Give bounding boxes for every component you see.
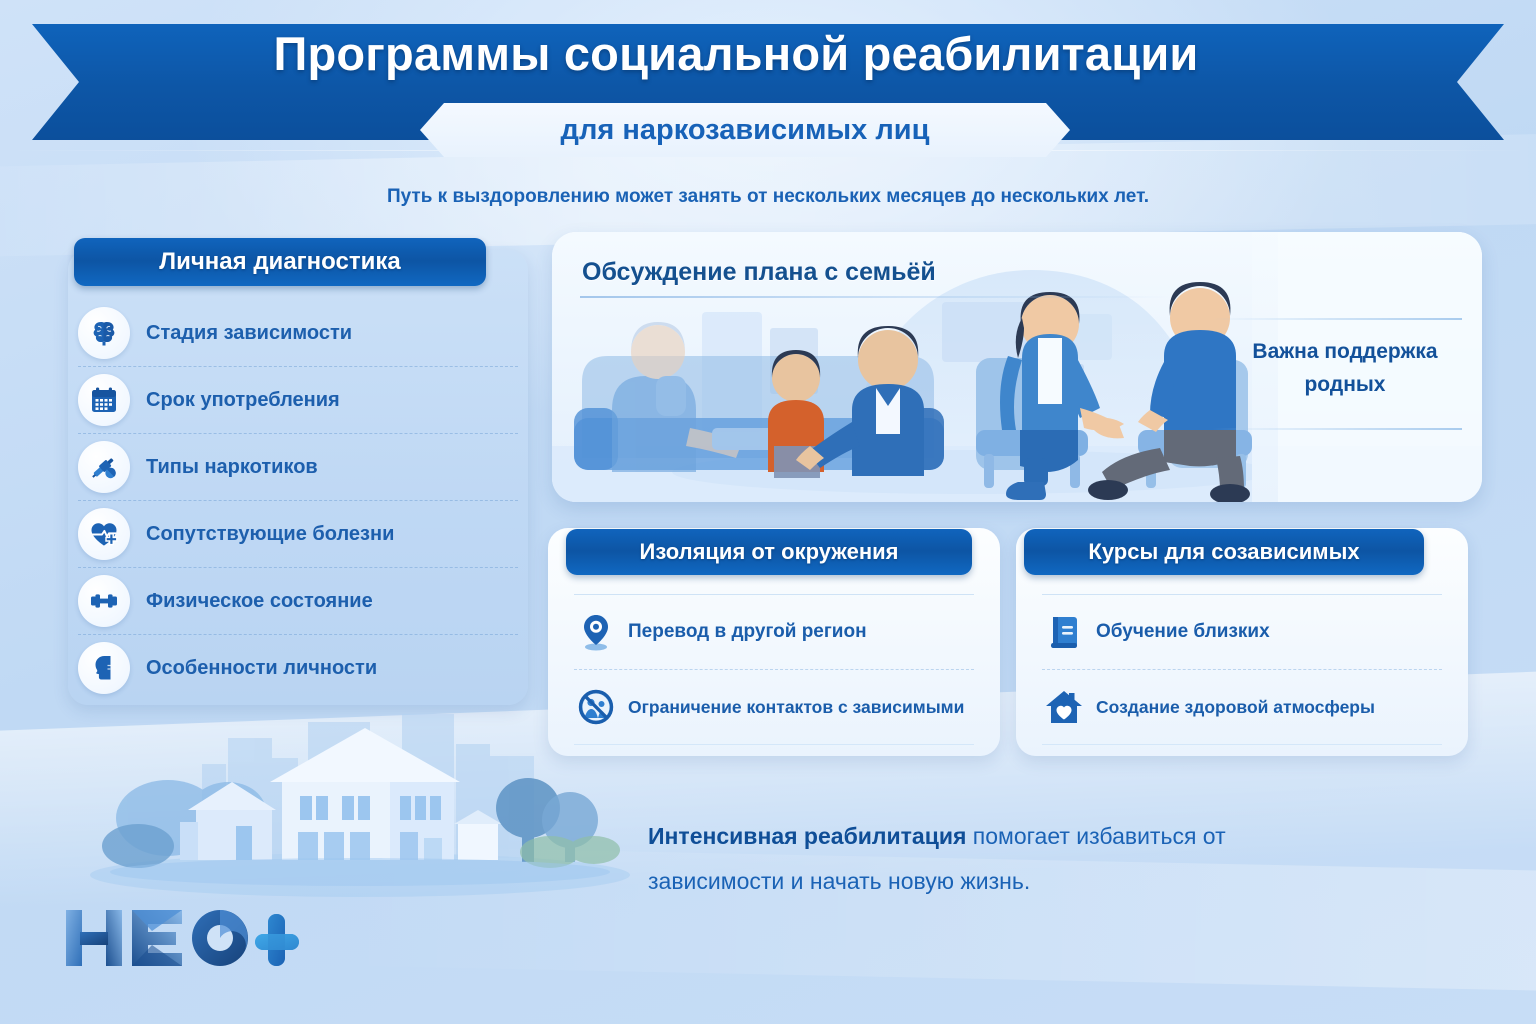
sidebar-list: Стадия зависимости [78,300,518,701]
heart-cross-icon [78,508,130,560]
sidebar-item-drug-types[interactable]: Типы наркотиков [78,434,518,501]
dumbbell-icon [78,575,130,627]
codependent-courses-list: Обучение близких Создание здоровой атмос… [1042,594,1442,745]
logo[interactable] [62,902,312,974]
conclusion-text: Интенсивная реабилитация помогает избави… [648,814,1348,904]
head-profile-icon [78,642,130,694]
sidebar-item-label: Особенности личности [146,657,377,680]
header-subribbon: для наркозависимых лиц [420,103,1070,157]
neo-plus-logo-icon [62,902,312,974]
isolation-item-relocation[interactable]: Перевод в другой регион [574,594,974,670]
course-item-healthy-atmosphere[interactable]: Создание здоровой атмосферы [1042,670,1442,745]
isolation-card-title: Изоляция от окружения [566,529,972,575]
sidebar-item-personality[interactable]: Особенности личности [78,635,518,701]
rehab-house-city-illustration [60,700,630,900]
sidebar-item-label: Стадия зависимости [146,322,352,345]
infographic-poster: Программы социальной реабилитации для на… [0,0,1536,1024]
course-item-label: Обучение близких [1096,621,1270,643]
course-item-label: Создание здоровой атмосферы [1096,697,1375,718]
page-subtitle: для наркозависимых лиц [420,103,1070,157]
isolation-item-label: Перевод в другой регион [628,621,867,643]
syringe-pills-icon [78,441,130,493]
isolation-list: Перевод в другой регион [574,594,974,745]
hero-title: Обсуждение плана с семьёй [582,258,936,287]
sidebar-item-label: Сопутствующие болезни [146,523,394,546]
map-pin-icon [574,613,618,651]
isolation-item-limit-contacts[interactable]: Ограничение контактов с зависимыми [574,670,974,745]
hero-title-rule [580,296,1170,298]
conclusion-bold: Интенсивная реабилитация [648,823,966,849]
sidebar-item-duration[interactable]: Срок употребления [78,367,518,434]
hero-note-rule-bottom [1212,428,1462,430]
codependent-courses-card-title: Курсы для созависимых [1024,529,1424,575]
calendar-icon [78,374,130,426]
sidebar-item-label: Срок употребления [146,389,340,412]
sidebar-item-stage[interactable]: Стадия зависимости [78,300,518,367]
intro-text: Путь к выздоровлению может занять от нес… [0,186,1536,208]
isolation-item-label: Ограничение контактов с зависимыми [628,697,964,718]
sidebar-title: Личная диагностика [74,238,486,286]
sidebar-item-label: Физическое состояние [146,590,373,613]
course-item-education[interactable]: Обучение близких [1042,594,1442,670]
page-title: Программы социальной реабилитации [0,26,1472,81]
book-icon [1042,614,1086,650]
hero-side-note: Важна поддержка родных [1230,336,1460,401]
sidebar-item-label: Типы наркотиков [146,456,318,479]
sidebar-item-comorbidities[interactable]: Сопутствующие болезни [78,501,518,568]
sidebar-item-physical-state[interactable]: Физическое состояние [78,568,518,635]
hero-card: Обсуждение плана с семьёй Важна поддержк… [552,232,1482,502]
brain-icon [78,307,130,359]
hero-note-rule-top [1212,318,1462,320]
house-heart-icon [1042,689,1086,725]
